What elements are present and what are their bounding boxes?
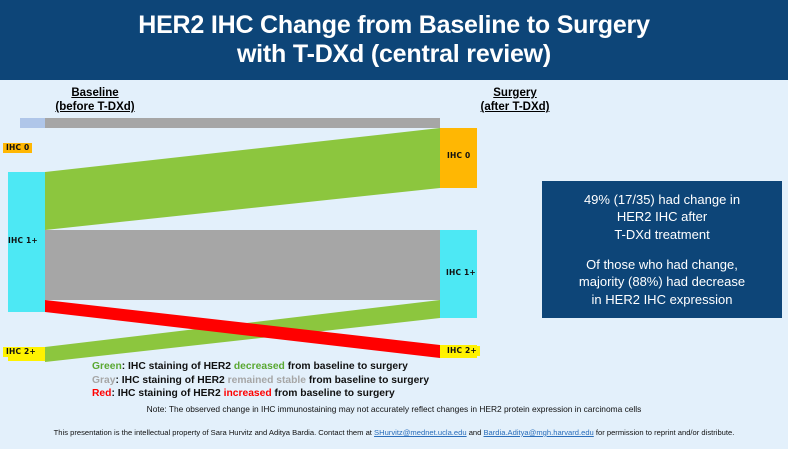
- node-label-baseline-ihc2: IHC 2+: [3, 347, 39, 357]
- legend-gray-key: Gray: [92, 375, 115, 386]
- sankey-diagram: IHC 0 IHC 1+ IHC 2+ IHC 0 IHC 1+ IHC 2+: [0, 110, 540, 365]
- footer-pre: This presentation is the intellectual pr…: [54, 428, 374, 437]
- legend-red-key: Red: [92, 388, 111, 399]
- sankey-svg: [0, 110, 540, 365]
- legend-item-green: Green: IHC staining of HER2 decreased fr…: [92, 360, 512, 374]
- title-banner: HER2 IHC Change from Baseline to Surgery…: [0, 0, 788, 80]
- legend-red-mid: : IHC staining of HER2: [111, 388, 223, 399]
- legend-green-tail: from baseline to surgery: [285, 361, 408, 372]
- node-label-surgery-ihc0: IHC 0: [444, 151, 473, 161]
- summary-line-5: majority (88%) had decrease: [552, 273, 772, 291]
- summary-line-2: HER2 IHC after: [552, 208, 772, 226]
- footer-attribution: This presentation is the intellectual pr…: [0, 428, 788, 437]
- legend-item-gray: Gray: IHC staining of HER2 remained stab…: [92, 374, 512, 388]
- summary-line-4: Of those who had change,: [552, 256, 772, 274]
- node-label-surgery-ihc1: IHC 1+: [443, 268, 479, 278]
- summary-line-3: T-DXd treatment: [552, 226, 772, 244]
- legend-red-tail: from baseline to surgery: [272, 388, 395, 399]
- baseline-header-line-1: Baseline: [20, 86, 170, 100]
- node-label-baseline-ihc1: IHC 1+: [5, 236, 41, 246]
- node-label-baseline-ihc0: IHC 0: [3, 143, 32, 153]
- footer-post: for permission to reprint and/or distrib…: [594, 428, 735, 437]
- legend-green-key: Green: [92, 361, 122, 372]
- footer-email-link-1[interactable]: SHurvitz@mednet.ucla.edu: [374, 428, 467, 437]
- footer-mid: and: [467, 428, 484, 437]
- legend: Green: IHC staining of HER2 decreased fr…: [92, 360, 512, 401]
- flow-ihc1-to-ihc1-stable: [45, 230, 440, 300]
- flow-ihc1-to-ihc0-decreased: [45, 128, 440, 230]
- footnote-note: Note: The observed change in IHC immunos…: [0, 404, 788, 414]
- legend-gray-tail: from baseline to surgery: [306, 375, 429, 386]
- flow-ihc0-to-ihc0-stable: [45, 118, 440, 128]
- summary-line-1: 49% (17/35) had change in: [552, 191, 772, 209]
- legend-green-mid: : IHC staining of HER2: [122, 361, 234, 372]
- footer-email-link-2[interactable]: Bardia.Aditya@mgh.harvard.edu: [483, 428, 593, 437]
- node-label-surgery-ihc2: IHC 2+: [444, 346, 480, 356]
- legend-red-word: increased: [224, 388, 272, 399]
- title-line-1: HER2 IHC Change from Baseline to Surgery: [138, 11, 650, 39]
- legend-gray-word: remained stable: [228, 375, 306, 386]
- legend-gray-mid: : IHC staining of HER2: [115, 375, 227, 386]
- legend-green-word: decreased: [234, 361, 285, 372]
- slide-root: HER2 IHC Change from Baseline to Surgery…: [0, 0, 788, 449]
- summary-callout-box: 49% (17/35) had change in HER2 IHC after…: [542, 181, 782, 318]
- summary-line-6: in HER2 IHC expression: [552, 291, 772, 309]
- title-line-2: with T-DXd (central review): [138, 40, 650, 69]
- surgery-header-line-1: Surgery: [440, 86, 590, 100]
- legend-item-red: Red: IHC staining of HER2 increased from…: [92, 387, 512, 401]
- summary-spacer: [552, 244, 772, 256]
- flow-ihc0-origin-stub: [20, 118, 45, 128]
- page-title: HER2 IHC Change from Baseline to Surgery…: [138, 11, 650, 69]
